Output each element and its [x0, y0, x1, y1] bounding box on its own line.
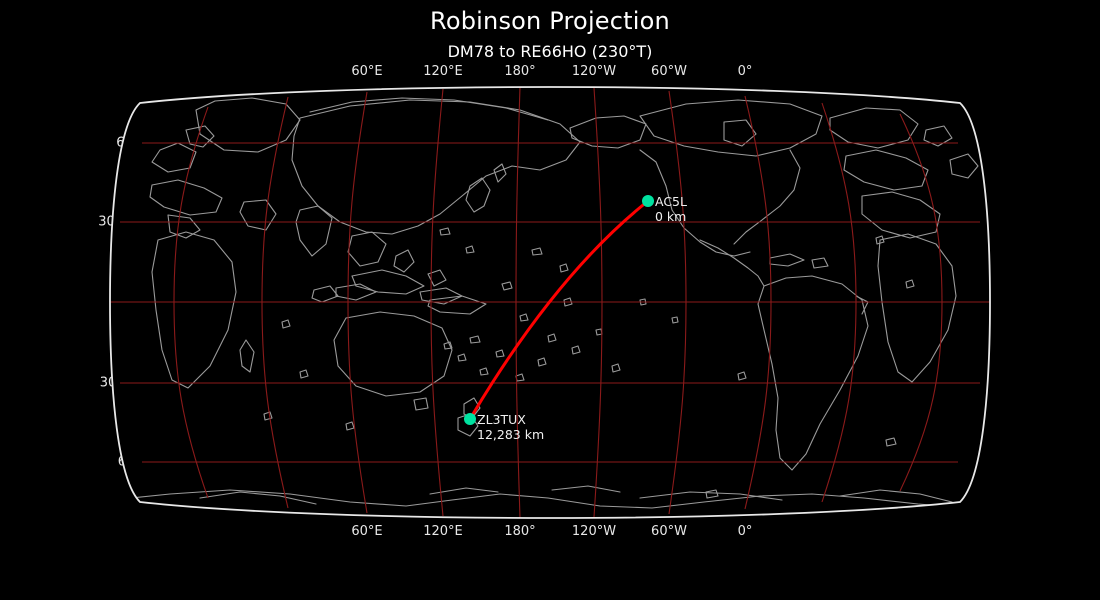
marker-distance-ac5l: 0 km [655, 209, 687, 224]
marker-point-ac5l[interactable] [642, 195, 654, 207]
marker-name-ac5l: AC5L [655, 194, 687, 209]
map-canvas [0, 0, 1100, 600]
marker-point-zl3tux[interactable] [464, 413, 476, 425]
marker-label-ac5l: AC5L 0 km [655, 194, 687, 224]
marker-name-zl3tux: ZL3TUX [477, 412, 544, 427]
marker-distance-zl3tux: 12,283 km [477, 427, 544, 442]
map-figure: Robinson Projection DM78 to RE66HO (230°… [0, 0, 1100, 600]
marker-label-zl3tux: ZL3TUX 12,283 km [477, 412, 544, 442]
